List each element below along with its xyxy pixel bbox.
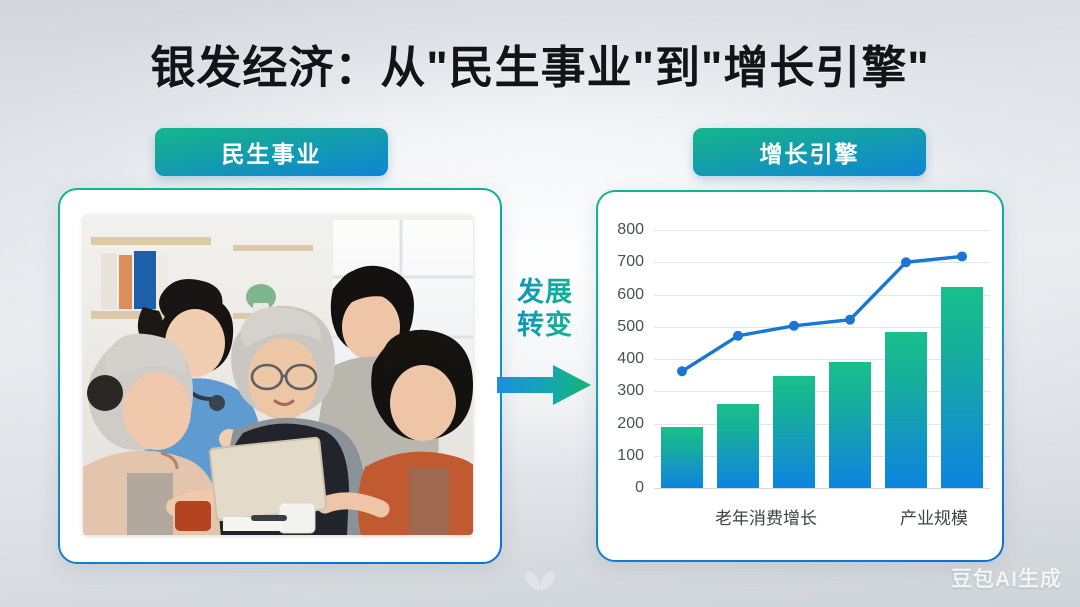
transition-line-2: 转变	[495, 309, 595, 342]
chart-line-point	[845, 315, 855, 325]
slide-root: 银发经济：从"民生事业"到"增长引擎" 民生事业 增长引擎	[0, 0, 1080, 607]
chart-line-point	[957, 251, 967, 261]
butterfly-logo-icon	[520, 560, 560, 596]
chart-x-tick-label: 产业规模	[900, 504, 968, 529]
transition-block: 发展 转变	[495, 276, 595, 407]
growth-chart: 0100200300400500600700800老年消费增长产业规模	[598, 192, 1002, 560]
page-title: 银发经济：从"民生事业"到"增长引擎"	[0, 31, 1080, 96]
chart-line-point	[901, 257, 911, 267]
badge-zengzhang: 增长引擎	[693, 128, 926, 176]
left-photo-card	[58, 188, 502, 564]
badge-minsheng: 民生事业	[155, 128, 388, 176]
chart-line-point	[789, 321, 799, 331]
transition-line-1: 发展	[495, 276, 595, 309]
badge-left-label: 民生事业	[222, 135, 322, 169]
elderly-care-photo	[83, 215, 473, 535]
ai-watermark: 豆包AI生成	[951, 563, 1062, 593]
chart-line-point	[677, 366, 687, 376]
right-arrow-icon	[495, 363, 595, 407]
elderly-care-photo-illustration	[83, 215, 473, 535]
right-chart-card: 0100200300400500600700800老年消费增长产业规模	[596, 190, 1004, 562]
badge-right-label: 增长引擎	[760, 135, 860, 169]
chart-x-tick-label: 老年消费增长	[715, 504, 817, 529]
chart-line-point	[733, 331, 743, 341]
